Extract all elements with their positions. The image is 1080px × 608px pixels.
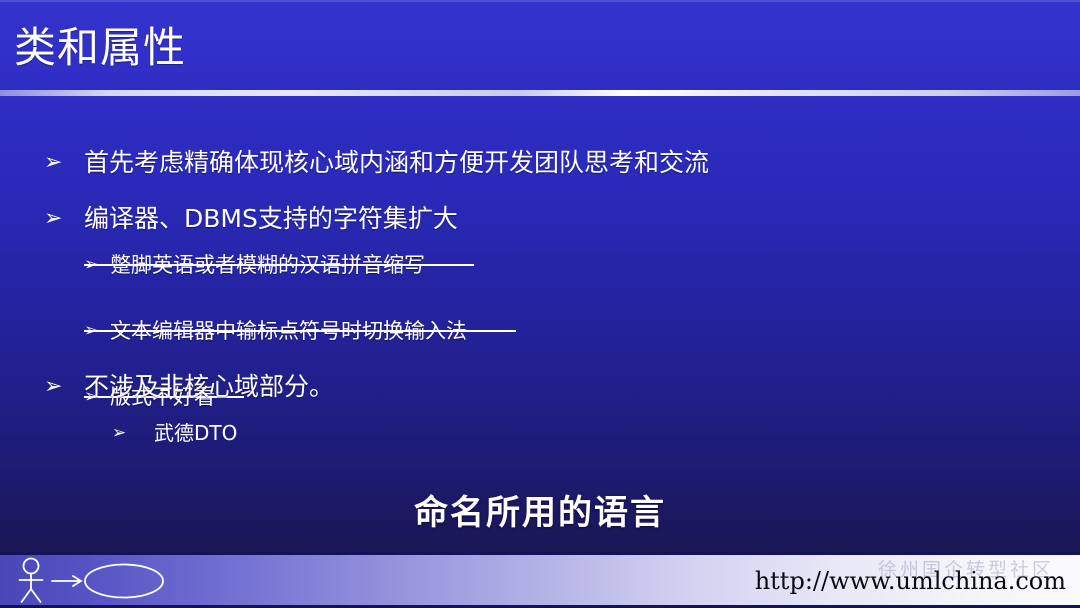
bullet-item-7: ➢ 武德DTO xyxy=(112,420,237,446)
arrowhead-bullet-icon: ➢ xyxy=(84,318,110,344)
bullet-list: ➢ 首先考虑精确体现核心域内涵和方便开发团队思考和交流 ➢ 编译器、DBMS支持… xyxy=(0,96,1080,174)
slide-body: ➢ 首先考虑精确体现核心域内涵和方便开发团队思考和交流 ➢ 编译器、DBMS支持… xyxy=(0,96,1080,552)
footer-url[interactable]: http://www.umlchina.com xyxy=(755,566,1066,596)
arrowhead-bullet-icon: ➢ xyxy=(44,204,84,234)
arrowhead-bullet-icon: ➢ xyxy=(44,372,84,402)
bullet-text: 文本编辑器中输标点符号时切换输入法 xyxy=(110,318,467,344)
presentation-slide: 类和属性 ➢ 首先考虑精确体现核心域内涵和方便开发团队思考和交流 ➢ 编译器、D… xyxy=(0,0,1080,608)
bullet-text: 编译器、DBMS支持的字符集扩大 xyxy=(84,204,458,234)
bullet-item-6: ➢ 不涉及非核心域部分。 xyxy=(44,372,334,402)
uml-use-case-diagram-icon xyxy=(14,555,174,605)
bullet-item-3: ➢ 蹩脚英语或者模糊的汉语拼音缩写 xyxy=(84,252,1080,278)
bullet-item-2: ➢ 编译器、DBMS支持的字符集扩大 xyxy=(44,204,458,234)
bullet-text: 蹩脚英语或者模糊的汉语拼音缩写 xyxy=(110,252,425,278)
bullet-item-4: ➢ 文本编辑器中输标点符号时切换输入法 xyxy=(84,318,1080,344)
bullet-item-1: ➢ 首先考虑精确体现核心域内涵和方便开发团队思考和交流 xyxy=(44,148,709,178)
center-heading: 命名所用的语言 xyxy=(0,492,1080,534)
page-title: 类和属性 xyxy=(14,22,186,74)
arrowhead-bullet-icon: ➢ xyxy=(84,252,110,278)
bullet-text: 不涉及非核心域部分。 xyxy=(84,372,334,402)
arrowhead-bullet-icon: ➢ xyxy=(112,420,154,446)
bullet-text: 武德DTO xyxy=(154,420,237,446)
bullet-text: 首先考虑精确体现核心域内涵和方便开发团队思考和交流 xyxy=(84,148,709,178)
header-top-highlight xyxy=(0,0,1080,2)
arrowhead-bullet-icon: ➢ xyxy=(44,148,84,178)
